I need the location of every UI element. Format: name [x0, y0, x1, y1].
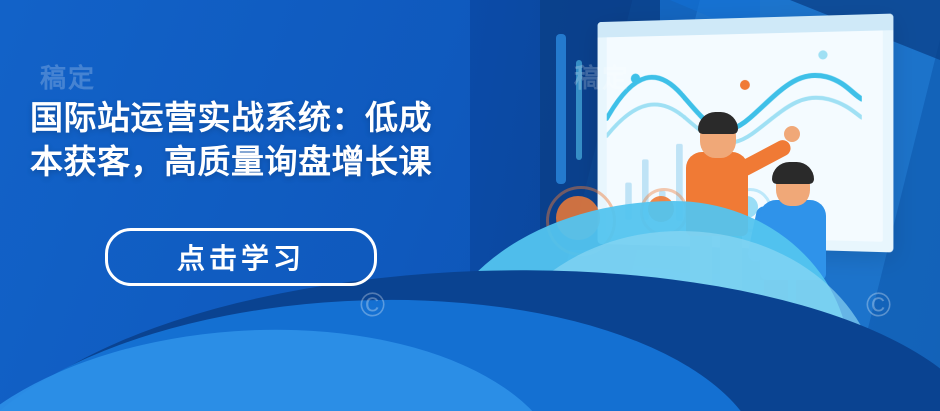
promo-banner: 稿定 稿定 © © 国际站运营实战系统：低成 本获客，高质量询盘增长课 点击学习: [0, 0, 940, 411]
watermark-copyright-right: ©: [866, 286, 891, 325]
watermark-logo-right: 稿定: [574, 58, 630, 95]
page-title-line-2: 本获客，高质量询盘增长课: [30, 140, 630, 184]
chart-node-dot: [740, 80, 750, 90]
watermark-copyright-left: ©: [360, 286, 385, 325]
watermark-logo-left: 稿定: [40, 58, 96, 95]
chart-node-dot: [631, 74, 640, 84]
cta-button-label: 点击学习: [177, 237, 305, 277]
cta-button[interactable]: 点击学习: [105, 228, 377, 286]
person-orange-hand: [784, 126, 800, 142]
person-blue-hair: [772, 162, 814, 184]
page-title-line-1: 国际站运营实战系统：低成: [30, 96, 630, 140]
page-title: 国际站运营实战系统：低成 本获客，高质量询盘增长课: [30, 96, 630, 184]
person-orange-hair: [698, 112, 738, 134]
